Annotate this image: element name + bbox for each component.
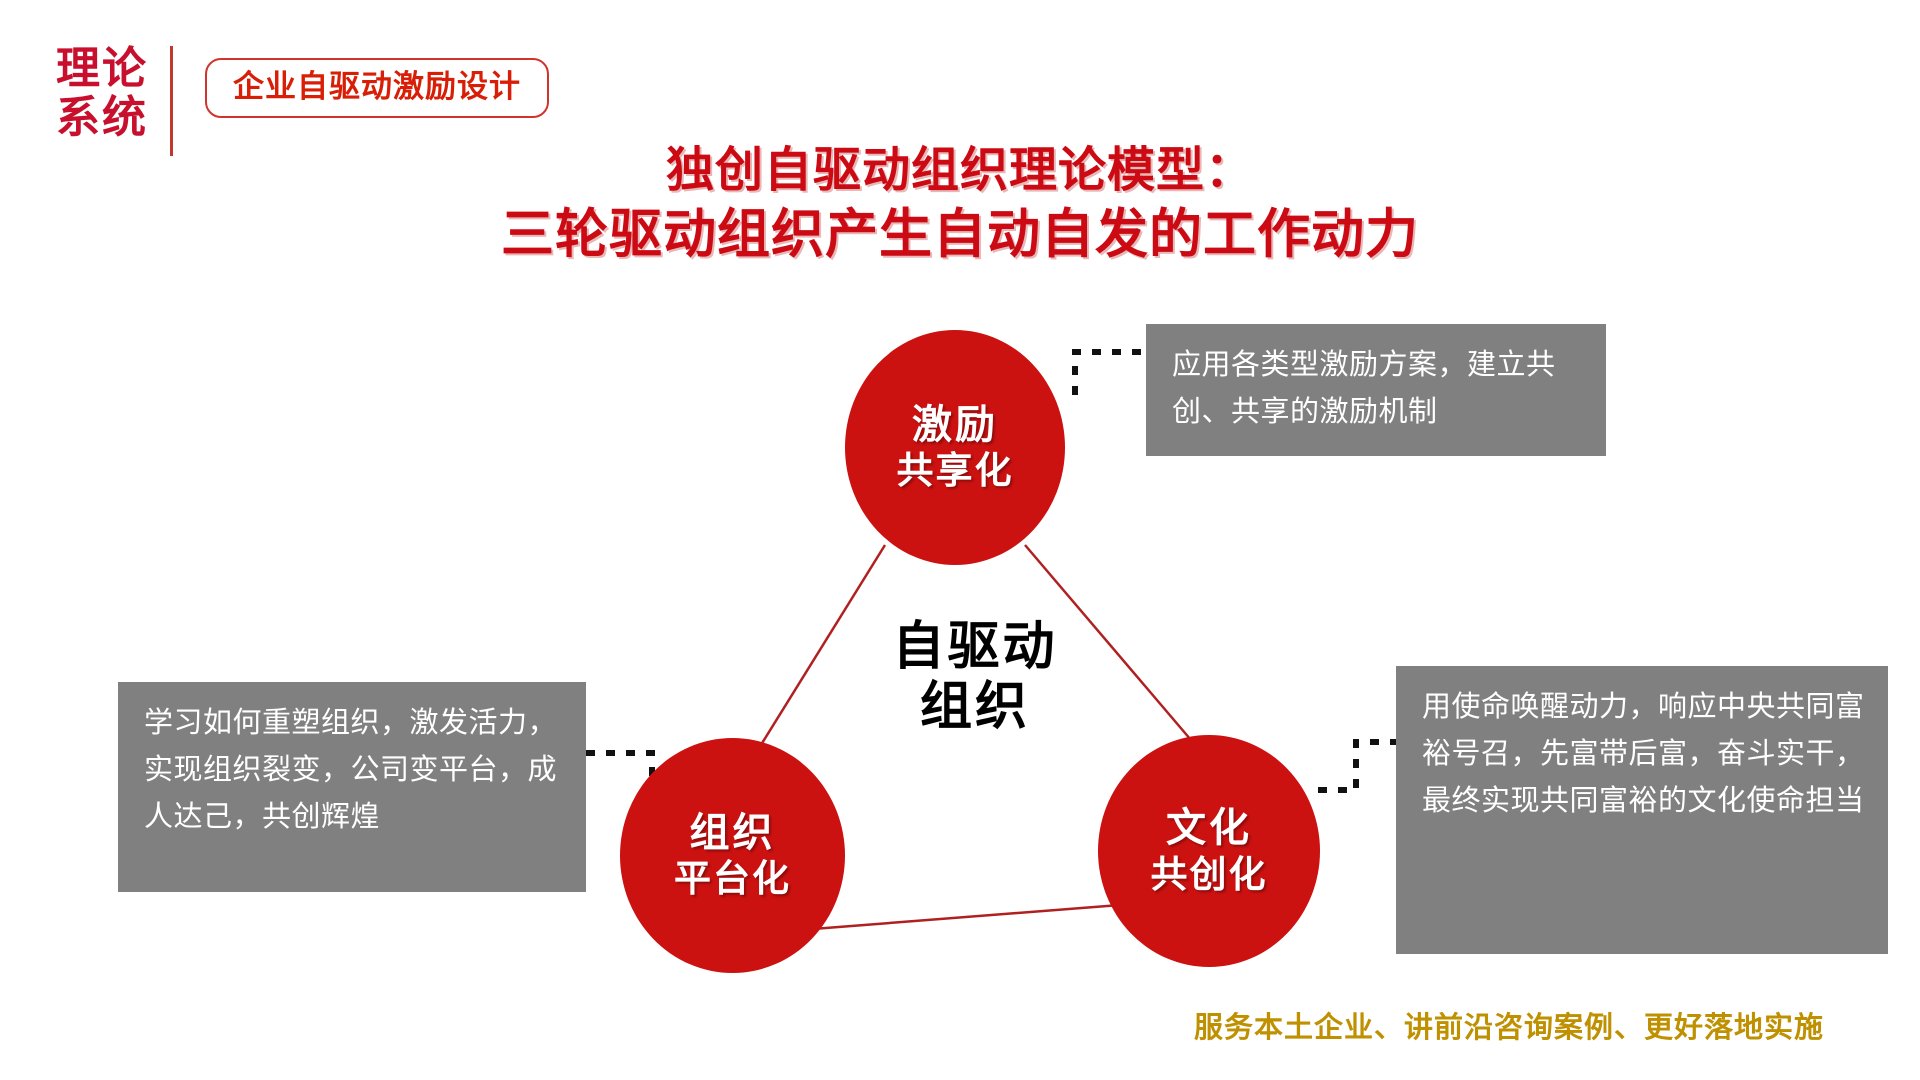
node-incentive-line1: 激励 — [912, 404, 998, 447]
theory-label-line1: 理论 — [56, 44, 148, 93]
note-culture: 用使命唤醒动力，响应中央共同富裕号召，先富带后富，奋斗实干，最终实现共同富裕的文… — [1396, 666, 1888, 954]
center-label-line1: 自驱动 — [855, 618, 1095, 678]
node-incentive[interactable]: 激励 共享化 — [845, 330, 1065, 565]
theory-system-label: 理论 系统 — [56, 44, 170, 143]
slide-canvas: 理论 系统 企业自驱动激励设计 独创自驱动组织理论模型： 三轮驱动组织产生自动自… — [0, 0, 1920, 1080]
page-title: 独创自驱动组织理论模型： 三轮驱动组织产生自动自发的工作动力 — [0, 140, 1920, 269]
center-label-line2: 组织 — [855, 678, 1095, 738]
node-culture-line1: 文化 — [1166, 807, 1252, 850]
node-organization-line2: 平台化 — [674, 859, 791, 899]
node-organization[interactable]: 组织 平台化 — [620, 738, 845, 973]
note-organization: 学习如何重塑组织，激发活力，实现组织裂变，公司变平台，成人达己，共创辉煌 — [118, 682, 586, 892]
page-title-line1: 独创自驱动组织理论模型： — [0, 140, 1920, 201]
node-culture-line2: 共创化 — [1151, 855, 1268, 895]
node-organization-line1: 组织 — [690, 812, 776, 855]
note-incentive: 应用各类型激励方案，建立共创、共享的激励机制 — [1146, 324, 1606, 456]
diagram-center-label: 自驱动 组织 — [855, 618, 1095, 738]
connector-incentive-dotted-icon — [1075, 352, 1146, 395]
theory-label-line2: 系统 — [56, 93, 148, 142]
connector-culture-dotted-icon — [1318, 742, 1396, 790]
footer-tagline: 服务本土企业、讲前沿咨询案例、更好落地实施 — [0, 1004, 1920, 1046]
node-culture[interactable]: 文化 共创化 — [1098, 735, 1320, 967]
page-title-line2: 三轮驱动组织产生自动自发的工作动力 — [0, 201, 1920, 269]
topic-badge: 企业自驱动激励设计 — [205, 58, 549, 118]
node-incentive-line2: 共享化 — [897, 451, 1014, 491]
